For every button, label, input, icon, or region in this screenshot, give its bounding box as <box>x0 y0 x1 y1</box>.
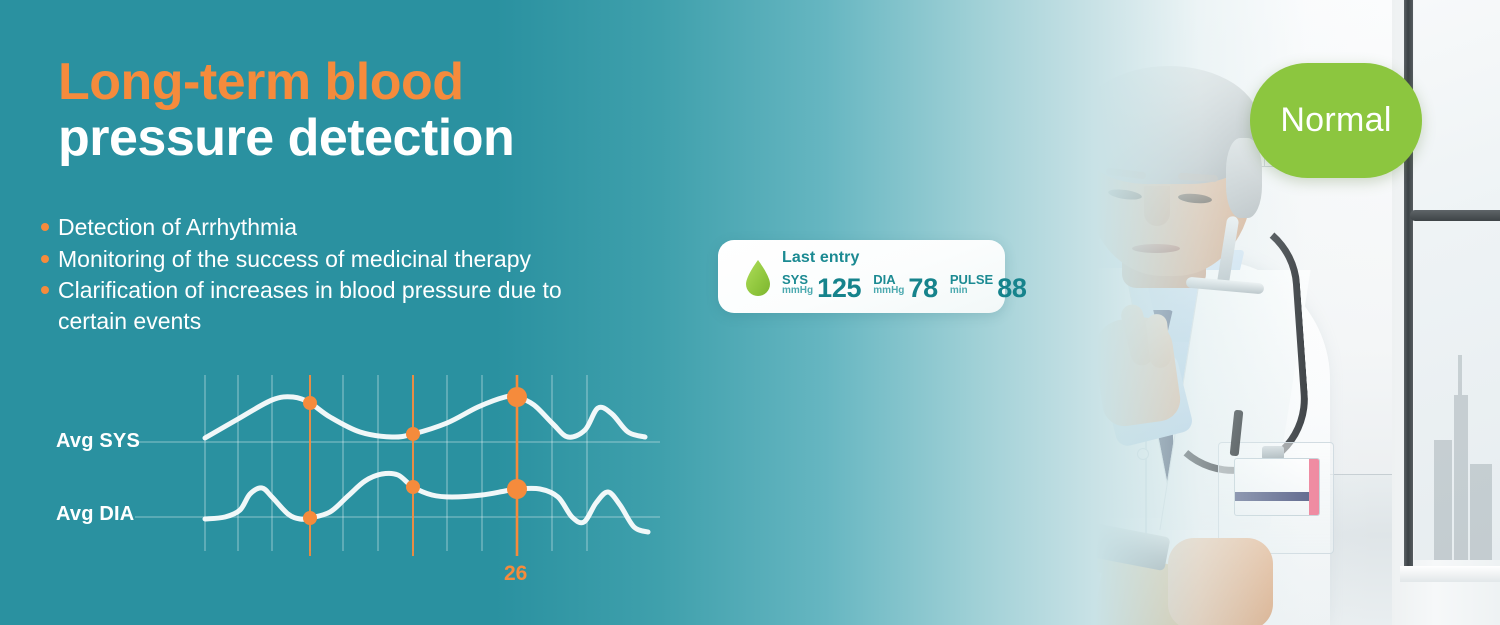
headline-line-1: Long-term blood <box>58 55 514 111</box>
list-item: Clarification of increases in blood pres… <box>34 275 564 336</box>
status-badge[interactable]: Normal <box>1250 63 1422 178</box>
chart-marker-dot-sys <box>303 396 317 410</box>
entry-card-texts: Last entry SYS mmHg 125 DIA mmHg <box>782 249 1036 300</box>
metric-unit: min <box>950 286 993 296</box>
banner-root: Long-term blood pressure detection Detec… <box>0 0 1500 625</box>
chart-marker-dot-sys <box>507 387 527 407</box>
metric-unit: mmHg <box>782 286 813 296</box>
banner-content: Long-term blood pressure detection Detec… <box>0 0 1500 625</box>
metric-value: 125 <box>817 276 861 301</box>
metric-value: 78 <box>908 276 937 301</box>
last-entry-card[interactable]: Last entry SYS mmHg 125 DIA mmHg <box>718 240 1005 313</box>
chart-marker-dot-dia <box>303 511 317 525</box>
status-badge-label: Normal <box>1280 101 1391 140</box>
metric-label: DIA <box>873 273 904 286</box>
metric-value: 88 <box>997 276 1026 301</box>
metric-label: SYS <box>782 273 813 286</box>
last-entry-title: Last entry <box>782 249 1036 267</box>
metrics-row: SYS mmHg 125 DIA mmHg 78 <box>782 273 1036 300</box>
feature-list: Detection of Arrhythmia Monitoring of th… <box>34 212 564 337</box>
metric-dia: DIA mmHg 78 <box>873 273 938 300</box>
blood-pressure-chart[interactable]: Avg SYS Avg DIA 26 <box>0 360 700 600</box>
metric-unit: mmHg <box>873 286 904 296</box>
page-title: Long-term blood pressure detection <box>58 55 514 166</box>
blood-drop-icon <box>745 260 771 296</box>
chart-marker-dot-dia <box>507 479 527 499</box>
metric-sys: SYS mmHg 125 <box>782 273 861 300</box>
list-item: Detection of Arrhythmia <box>34 212 564 243</box>
metric-label: PULSE <box>950 273 993 286</box>
chart-line-avg-sys <box>205 396 645 438</box>
chart-marker-dot-sys <box>406 427 420 441</box>
chart-canvas <box>0 360 700 600</box>
metric-pulse: PULSE min 88 <box>950 273 1027 300</box>
chart-x-tick-selected: 26 <box>504 562 527 586</box>
list-item: Monitoring of the success of medicinal t… <box>34 244 564 275</box>
headline-line-2: pressure detection <box>58 111 514 167</box>
chart-marker-dot-dia <box>406 480 420 494</box>
